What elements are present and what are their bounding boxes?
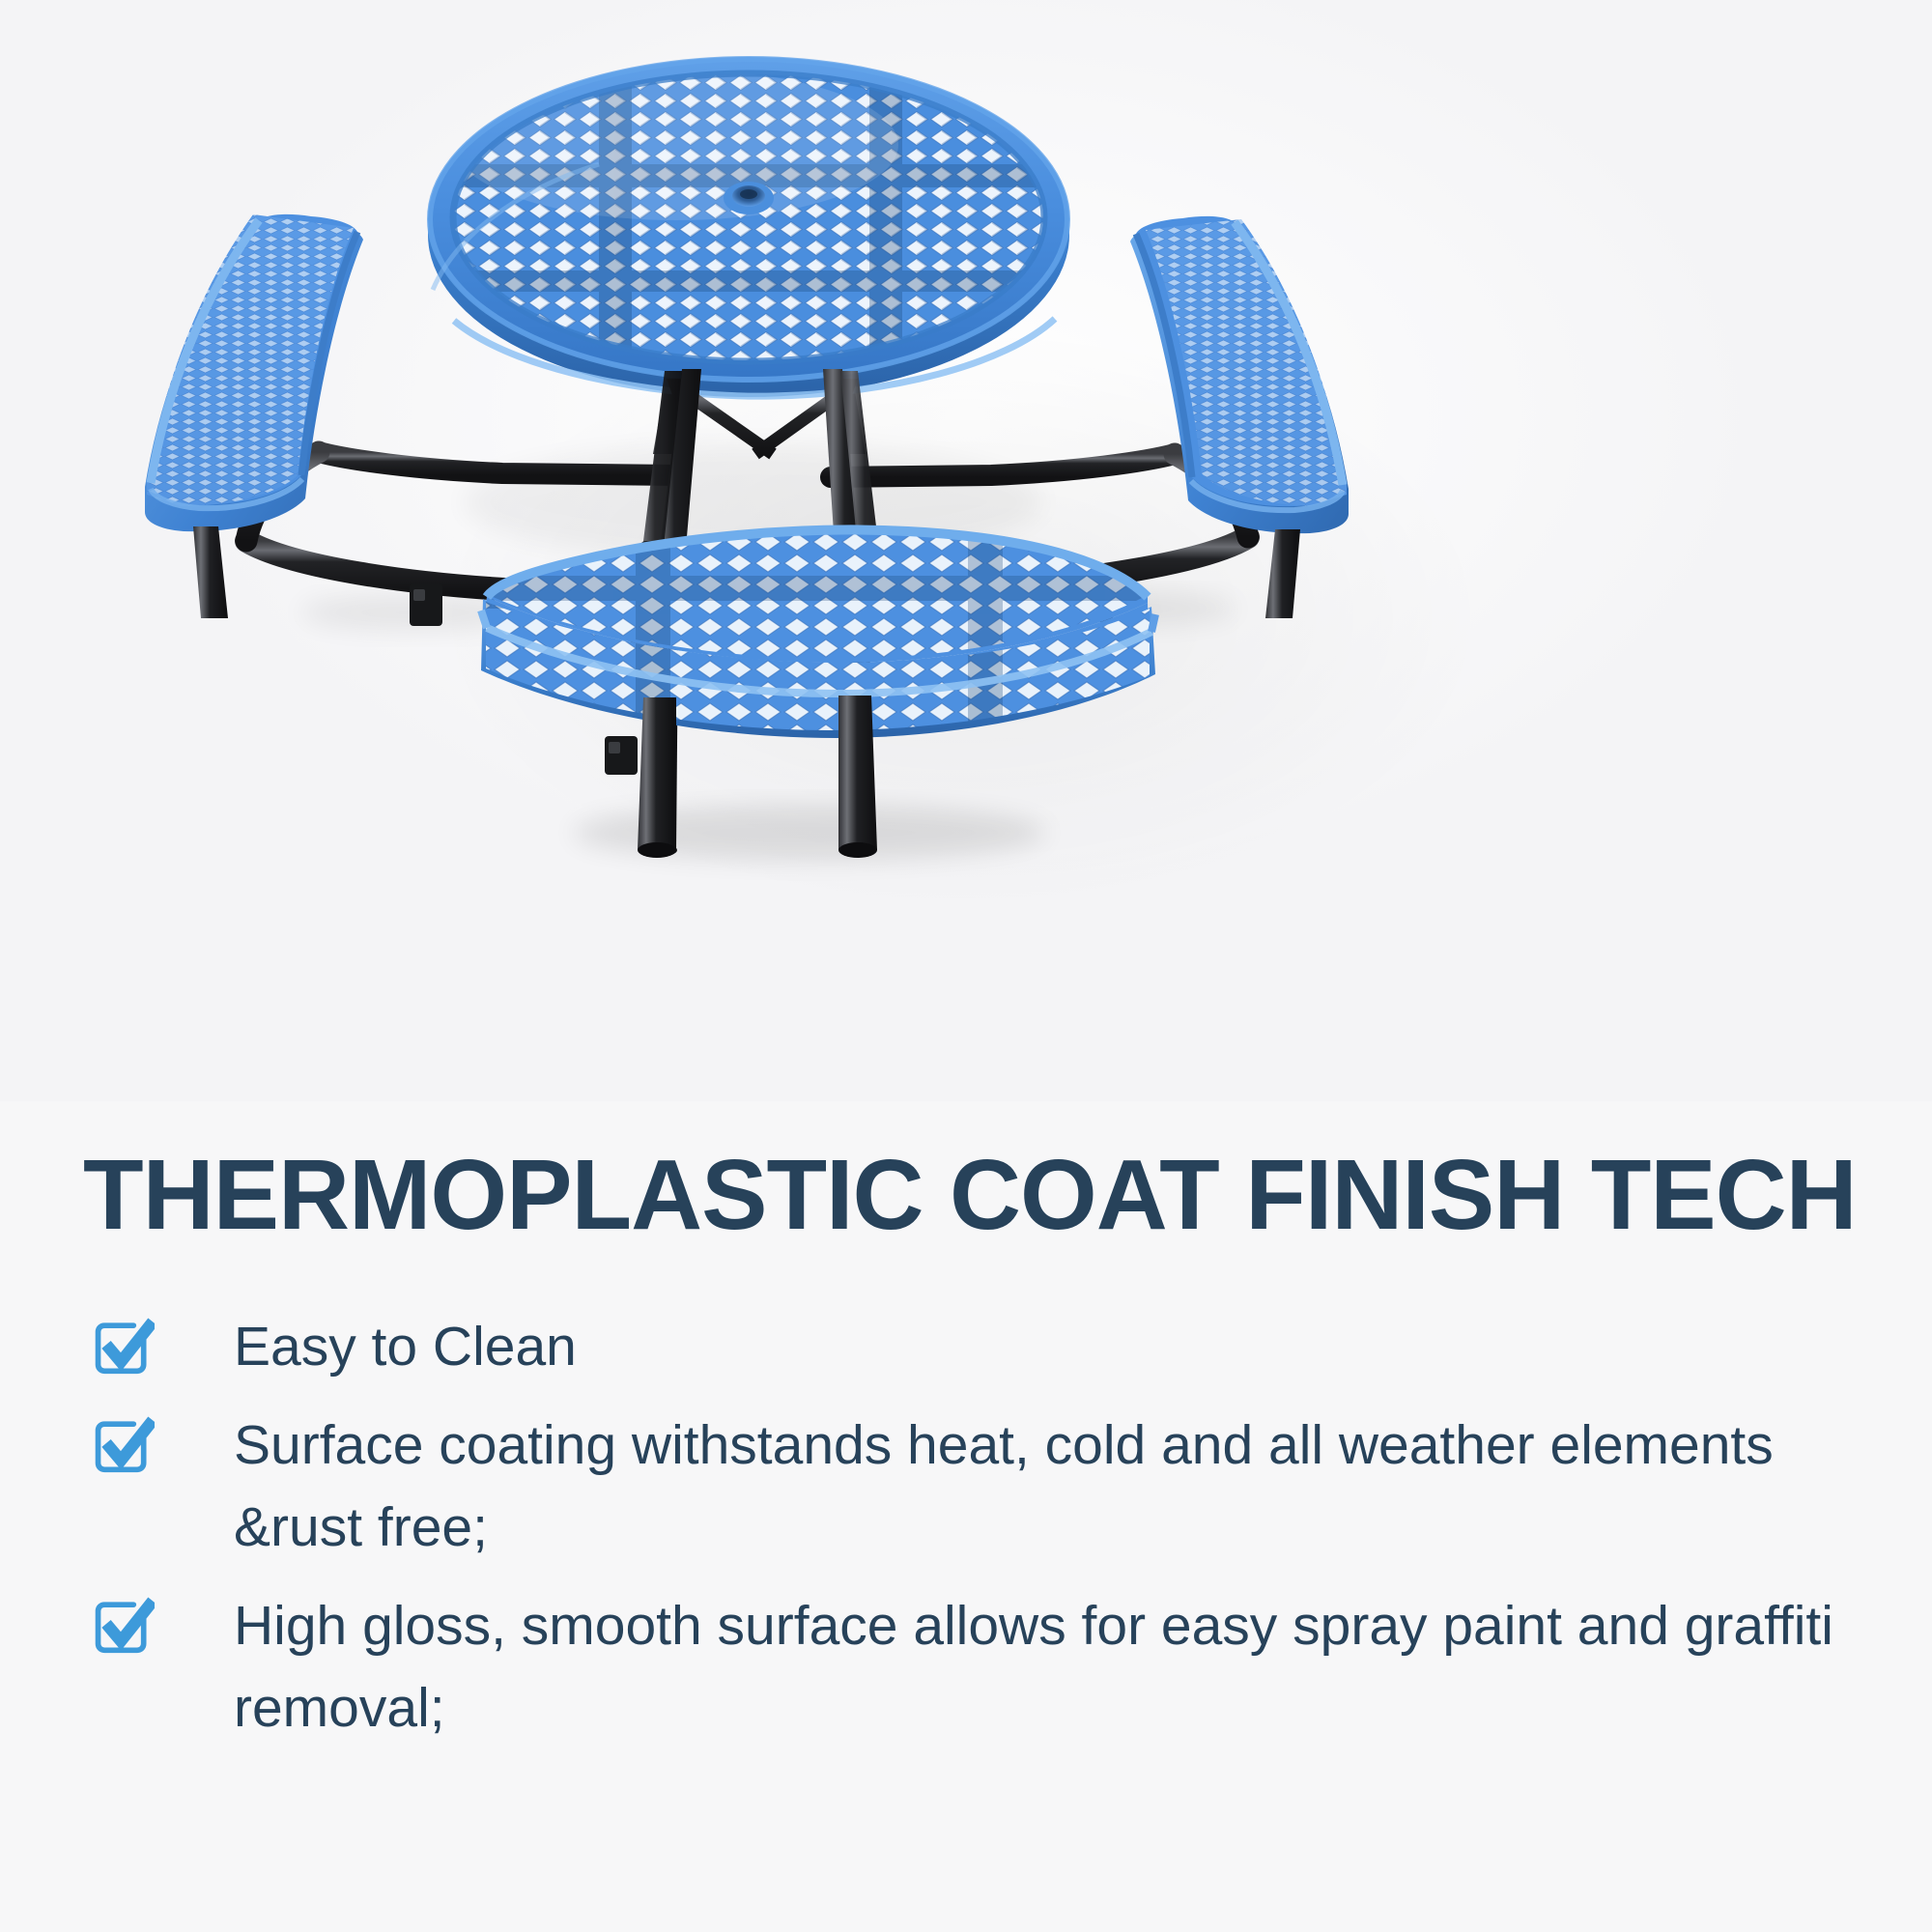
list-item-label: High gloss, smooth surface allows for ea…: [234, 1583, 1889, 1750]
umbrella-hole: [724, 182, 774, 214]
checkbox-checked-icon: [91, 1312, 155, 1376]
page-title: THERMOPLASTIC COAT FINISH TECH: [83, 1145, 1871, 1244]
checkbox-checked-icon: [91, 1410, 155, 1474]
list-item-label: Easy to Clean: [234, 1304, 1889, 1389]
picnic-table-illustration: [0, 0, 1932, 1101]
checkbox-checked-icon: [91, 1591, 155, 1655]
list-item: Easy to Clean: [83, 1304, 1889, 1389]
bench-front: [464, 522, 1179, 775]
feature-list: Easy to Clean Surface coating withstands…: [83, 1304, 1889, 1764]
product-image-stage: [0, 0, 1932, 1101]
table-top: [428, 57, 1069, 397]
list-item: High gloss, smooth surface allows for ea…: [83, 1583, 1889, 1750]
list-item-label: Surface coating withstands heat, cold an…: [234, 1403, 1889, 1570]
list-item: Surface coating withstands heat, cold an…: [83, 1403, 1889, 1570]
anchor-plate-front: [605, 736, 638, 775]
marketing-copy-block: THERMOPLASTIC COAT FINISH TECH Easy to C…: [0, 1101, 1932, 1932]
